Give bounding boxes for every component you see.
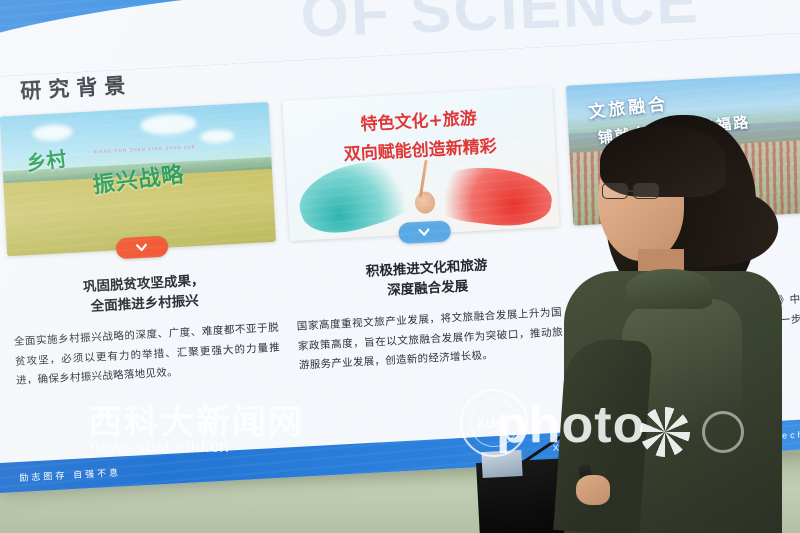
banner-culture-plus-tourism: 特色文化+旅游 双向赋能创造新精彩 (283, 87, 560, 241)
lectern-nameplate (481, 450, 522, 478)
banner-title-line1: 特色文化+旅游 (360, 103, 477, 134)
presenter (552, 103, 792, 533)
glasses-lens-right (633, 183, 659, 199)
column-heading: 积极推进文化和旅游 深度融合发展 (292, 252, 563, 306)
banner-rural-revitalization: XIANG CUN ZHEN XING ZHAN LUE 乡村 振兴战略 (0, 102, 276, 256)
chevron-down-icon[interactable] (398, 220, 451, 244)
jacket-collar (626, 269, 712, 309)
banner-pinyin: XIANG CUN ZHEN XING ZHAN LUE (93, 144, 195, 155)
page-title: 研究背景 (20, 69, 133, 105)
cloud-shape (33, 124, 74, 142)
cloud-shape (140, 113, 197, 136)
university-motto: 励志图存 自强不息 (19, 465, 121, 483)
column-body-text: 全面实施乡村振兴战略的深度、广度、难度都不亚于脱贫攻坚，必须以更有力的举措、汇聚… (11, 319, 283, 392)
column-rural-revitalization: XIANG CUN ZHEN XING ZHAN LUE 乡村 振兴战略 巩固脱… (0, 102, 284, 392)
cloud-shape (200, 129, 235, 144)
banner-title-line2: 双向赋能创造新精彩 (343, 132, 497, 165)
glasses-icon (602, 183, 664, 201)
column-heading: 巩固脱贫攻坚成果， 全面推进乡村振兴 (9, 268, 280, 322)
hand (576, 475, 610, 505)
glasses-lens-left (602, 183, 628, 199)
chevron-down-icon[interactable] (115, 236, 168, 260)
banner-title-line1: 乡村 (25, 142, 68, 176)
pipa-instrument-icon (414, 192, 435, 215)
glasses-bridge (628, 190, 634, 192)
